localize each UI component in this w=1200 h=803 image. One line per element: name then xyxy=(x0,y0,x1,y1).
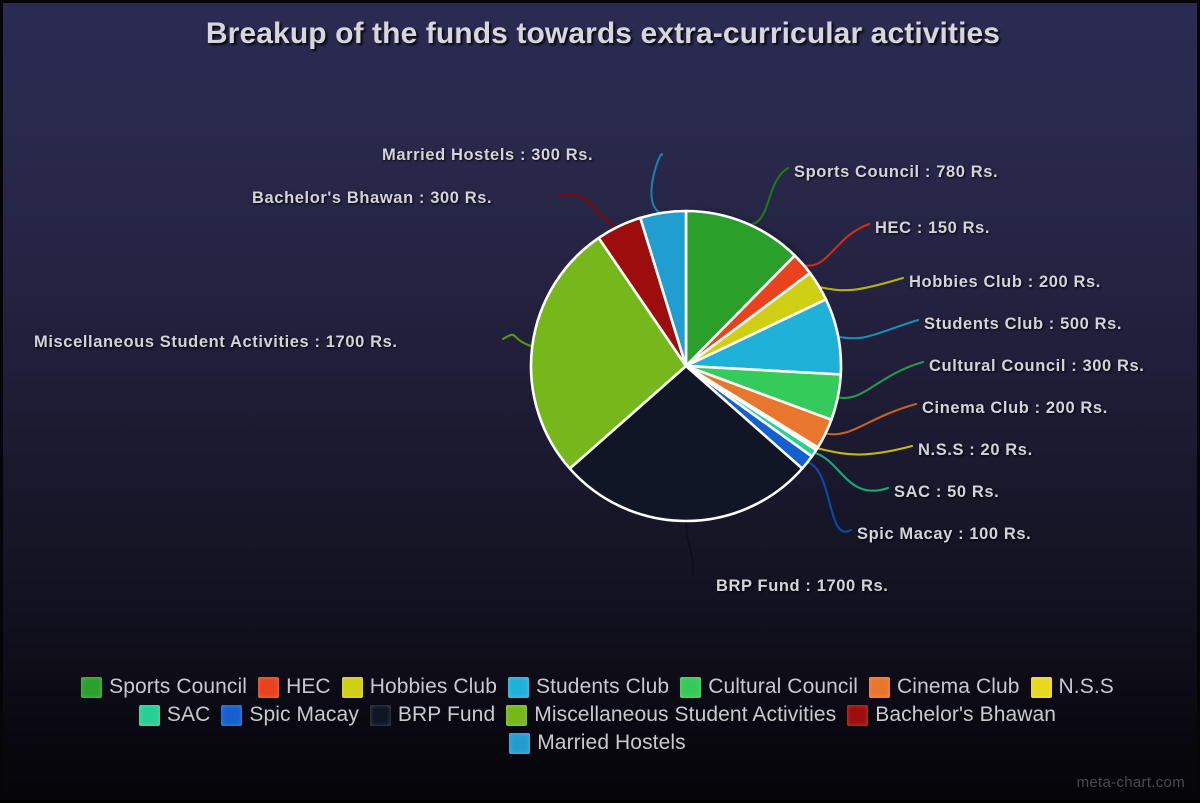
slice-label-hec: HEC : 150 Rs. xyxy=(875,219,990,238)
leader-line xyxy=(824,404,916,434)
legend-label: Cultural Council xyxy=(708,675,858,699)
legend-item[interactable]: Hobbies Club xyxy=(342,675,497,699)
legend-swatch-icon xyxy=(139,705,160,726)
leader-line xyxy=(686,519,693,575)
leader-line xyxy=(836,362,923,398)
legend-swatch-icon xyxy=(370,705,391,726)
legend-swatch-icon xyxy=(869,677,890,698)
legend-label: BRP Fund xyxy=(398,703,495,727)
watermark: meta-chart.com xyxy=(1077,774,1185,791)
chart-legend: Sports CouncilHECHobbies ClubStudents Cl… xyxy=(3,675,1200,757)
legend-swatch-icon xyxy=(509,733,530,754)
legend-swatch-icon xyxy=(221,705,242,726)
leader-line xyxy=(802,224,869,266)
slice-label-sac: SAC : 50 Rs. xyxy=(894,483,999,502)
slice-label-sports-council: Sports Council : 780 Rs. xyxy=(794,163,998,182)
legend-label: Spic Macay xyxy=(249,703,359,727)
legend-item[interactable]: Miscellaneous Student Activities xyxy=(506,703,836,727)
slice-label-married-hostels: Married Hostels : 300 Rs. xyxy=(382,146,593,165)
legend-item[interactable]: SAC xyxy=(139,703,210,727)
legend-swatch-icon xyxy=(342,677,363,698)
legend-swatch-icon xyxy=(847,705,868,726)
legend-label: Sports Council xyxy=(109,675,247,699)
leader-line xyxy=(806,462,851,532)
pie-slices xyxy=(531,211,841,521)
leader-line xyxy=(816,446,912,455)
leader-line xyxy=(559,194,619,228)
legend-label: N.S.S xyxy=(1059,675,1114,699)
legend-label: Married Hostels xyxy=(537,731,686,755)
legend-label: SAC xyxy=(167,703,210,727)
legend-label: HEC xyxy=(286,675,331,699)
legend-label: Hobbies Club xyxy=(370,675,497,699)
legend-swatch-icon xyxy=(506,705,527,726)
legend-label: Bachelor's Bhawan xyxy=(875,703,1056,727)
leader-line xyxy=(503,335,534,347)
leader-line xyxy=(837,320,918,338)
legend-item[interactable]: BRP Fund xyxy=(370,703,495,727)
legend-item[interactable]: Married Hostels xyxy=(509,731,686,755)
chart-canvas: Breakup of the funds towards extra-curri… xyxy=(0,0,1200,800)
slice-label-spic-macay: Spic Macay : 100 Rs. xyxy=(857,525,1031,544)
legend-item[interactable]: Spic Macay xyxy=(221,703,359,727)
legend-item[interactable]: Sports Council xyxy=(81,675,247,699)
legend-swatch-icon xyxy=(1031,677,1052,698)
slice-label-hobbies-club: Hobbies Club : 200 Rs. xyxy=(909,273,1101,292)
slice-label-cinema-club: Cinema Club : 200 Rs. xyxy=(922,399,1108,418)
legend-swatch-icon xyxy=(81,677,102,698)
slice-label-bachelors-bhawan: Bachelor's Bhawan : 300 Rs. xyxy=(252,189,492,208)
legend-swatch-icon xyxy=(680,677,701,698)
legend-label: Cinema Club xyxy=(897,675,1020,699)
legend-swatch-icon xyxy=(258,677,279,698)
legend-item[interactable]: Cultural Council xyxy=(680,675,858,699)
legend-item[interactable]: HEC xyxy=(258,675,331,699)
leader-line xyxy=(744,168,788,225)
legend-item[interactable]: Cinema Club xyxy=(869,675,1020,699)
legend-swatch-icon xyxy=(508,677,529,698)
slice-label-students-club: Students Club : 500 Rs. xyxy=(924,315,1122,334)
slice-label-brp-fund: BRP Fund : 1700 Rs. xyxy=(716,577,888,596)
legend-label: Students Club xyxy=(536,675,669,699)
legend-item[interactable]: Bachelor's Bhawan xyxy=(847,703,1056,727)
legend-item[interactable]: N.S.S xyxy=(1031,675,1114,699)
slice-label-miscellaneous: Miscellaneous Student Activities : 1700 … xyxy=(34,333,398,352)
legend-label: Miscellaneous Student Activities xyxy=(534,703,836,727)
leader-line xyxy=(651,154,663,214)
legend-item[interactable]: Students Club xyxy=(508,675,669,699)
leader-line xyxy=(817,278,903,290)
slice-label-cultural-council: Cultural Council : 300 Rs. xyxy=(929,357,1144,376)
slice-label-nss: N.S.S : 20 Rs. xyxy=(918,441,1033,460)
